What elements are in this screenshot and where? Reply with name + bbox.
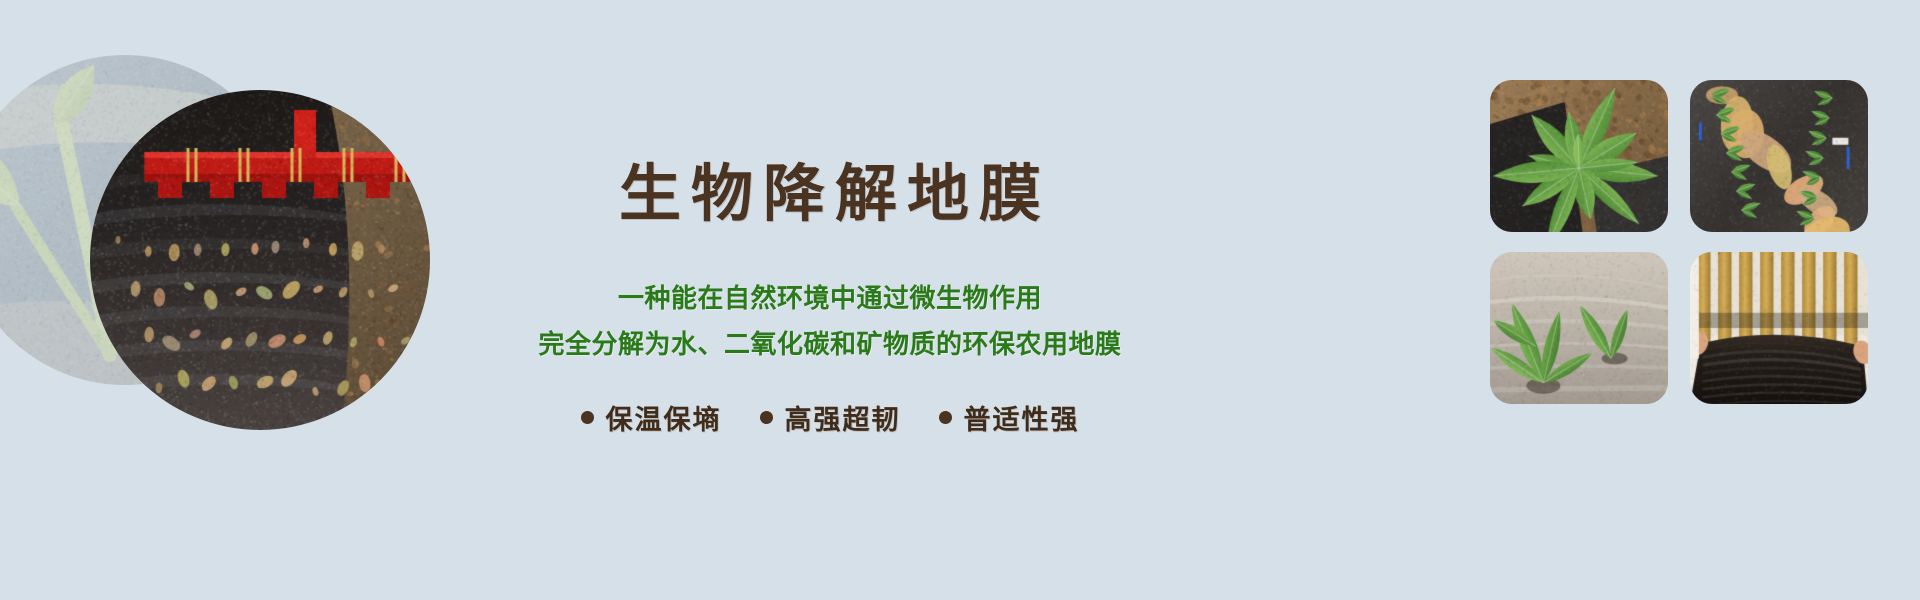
page-title: 生物降解地膜 xyxy=(609,163,1051,228)
feature-item-2: 普适性强 xyxy=(939,398,1080,437)
feature-list: 保温保墒 高强超韧 普适性强 xyxy=(581,398,1080,437)
photo-tobacco-plant-on-black-mulch-film xyxy=(1490,80,1668,232)
feature-label-1: 高强超韧 xyxy=(785,398,901,437)
photo-black-film-roll-product-display xyxy=(1690,252,1868,404)
filled-circle-bullet-icon xyxy=(581,411,594,424)
description-line-1: 一种能在自然环境中通过微生物作用 xyxy=(538,276,1121,322)
photo-corn-seedlings-through-mulch-film xyxy=(1490,252,1668,404)
promo-banner: 生物降解地膜 一种能在自然环境中通过微生物作用 完全分解为水、二氧化碳和矿物质的… xyxy=(0,0,1920,600)
description-block: 一种能在自然环境中通过微生物作用 完全分解为水、二氧化碳和矿物质的环保农用地膜 xyxy=(538,276,1121,369)
feature-item-0: 保温保墒 xyxy=(581,398,722,437)
headline-block: 生物降解地膜 一种能在自然环境中通过微生物作用 完全分解为水、二氧化碳和矿物质的… xyxy=(470,0,1190,600)
filled-circle-bullet-icon xyxy=(760,411,773,424)
circle-photo-mulch-machine xyxy=(90,90,430,430)
filled-circle-bullet-icon xyxy=(939,411,952,424)
feature-label-2: 普适性强 xyxy=(964,398,1080,437)
photo-grid xyxy=(1490,80,1886,410)
feature-item-1: 高强超韧 xyxy=(760,398,901,437)
photo-field-rows-covered-with-degradable-film xyxy=(1690,80,1868,232)
left-circle-collage xyxy=(0,40,460,460)
description-line-2: 完全分解为水、二氧化碳和矿物质的环保农用地膜 xyxy=(538,322,1121,368)
feature-label-0: 保温保墒 xyxy=(606,398,722,437)
